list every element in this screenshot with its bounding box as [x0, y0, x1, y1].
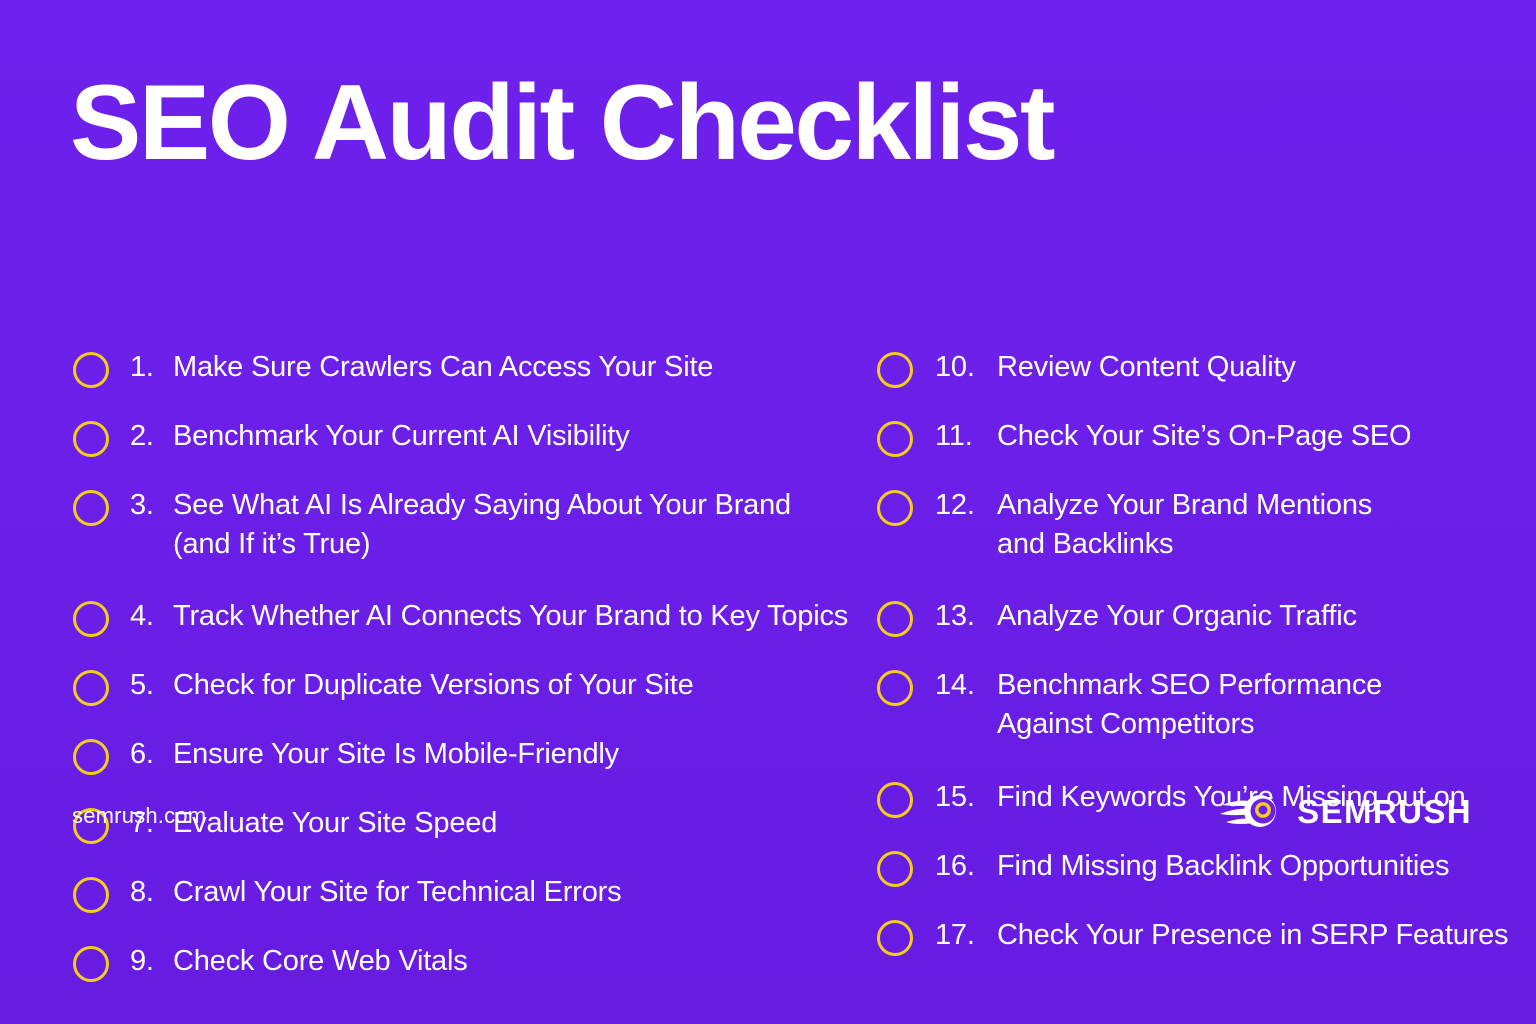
checklist-item-label: Benchmark Your Current AI Visibility	[173, 417, 630, 456]
checklist-item-label: Make Sure Crawlers Can Access Your Site	[173, 348, 713, 387]
checklist-item-body: 12.Analyze Your Brand Mentions and Backl…	[935, 486, 1372, 563]
checkbox-circle-icon[interactable]	[877, 920, 913, 956]
checkbox-circle-icon[interactable]	[877, 490, 913, 526]
checklist-item-number: 4.	[130, 597, 173, 636]
checklist-item-number: 14.	[935, 666, 997, 705]
checklist-columns: 1.Make Sure Crawlers Can Access Your Sit…	[0, 348, 1536, 1011]
checklist-column-right: 10.Review Content Quality11.Check Your S…	[860, 348, 1536, 1011]
checklist-item-label: Check Core Web Vitals	[173, 942, 468, 981]
brand-wordmark: SEMRUSH	[1297, 795, 1472, 828]
checklist-item-body: 11.Check Your Site’s On-Page SEO	[935, 417, 1411, 456]
checklist-item[interactable]: 2.Benchmark Your Current AI Visibility	[73, 417, 860, 457]
checklist-item-label: Check for Duplicate Versions of Your Sit…	[173, 666, 694, 705]
checklist-item-number: 9.	[130, 942, 173, 981]
brand-logo[interactable]: SEMRUSH	[1220, 789, 1472, 833]
checklist-column-left: 1.Make Sure Crawlers Can Access Your Sit…	[0, 348, 860, 1011]
checklist-item[interactable]: 13.Analyze Your Organic Traffic	[877, 597, 1536, 637]
checklist-item[interactable]: 5.Check for Duplicate Versions of Your S…	[73, 666, 860, 706]
checklist-item[interactable]: 14.Benchmark SEO Performance Against Com…	[877, 666, 1536, 743]
checklist-item[interactable]: 1.Make Sure Crawlers Can Access Your Sit…	[73, 348, 860, 388]
checklist-item-body: 9.Check Core Web Vitals	[130, 942, 468, 981]
checklist-item-number: 3.	[130, 486, 173, 525]
site-url[interactable]: semrush.com	[72, 803, 206, 829]
checklist-item[interactable]: 10.Review Content Quality	[877, 348, 1536, 388]
checklist-item-body: 5.Check for Duplicate Versions of Your S…	[130, 666, 694, 705]
checklist-item-number: 12.	[935, 486, 997, 525]
checklist-item-label: Analyze Your Organic Traffic	[997, 597, 1357, 636]
checklist-item-label: Ensure Your Site Is Mobile-Friendly	[173, 735, 619, 774]
checklist-item-body: 4.Track Whether AI Connects Your Brand t…	[130, 597, 848, 636]
checklist-item-body: 17.Check Your Presence in SERP Features	[935, 916, 1508, 955]
checklist-item-body: 3.See What AI Is Already Saying About Yo…	[130, 486, 791, 563]
checkbox-circle-icon[interactable]	[73, 946, 109, 982]
checklist-item[interactable]: 6.Ensure Your Site Is Mobile-Friendly	[73, 735, 860, 775]
checklist-item-number: 1.	[130, 348, 173, 387]
checklist-item-label: Track Whether AI Connects Your Brand to …	[173, 597, 848, 636]
checklist-item-number: 10.	[935, 348, 997, 387]
checklist-item-number: 17.	[935, 916, 997, 955]
poster-footer: semrush.com SEMRUSH	[0, 775, 1536, 895]
checkbox-circle-icon[interactable]	[73, 352, 109, 388]
checkbox-circle-icon[interactable]	[877, 421, 913, 457]
checkbox-circle-icon[interactable]	[877, 352, 913, 388]
checkbox-circle-icon[interactable]	[73, 421, 109, 457]
checklist-item-body: 1.Make Sure Crawlers Can Access Your Sit…	[130, 348, 713, 387]
checkbox-circle-icon[interactable]	[73, 670, 109, 706]
checklist-item[interactable]: 4.Track Whether AI Connects Your Brand t…	[73, 597, 860, 637]
checklist-item-body: 14.Benchmark SEO Performance Against Com…	[935, 666, 1382, 743]
checklist-item-body: 2.Benchmark Your Current AI Visibility	[130, 417, 630, 456]
checklist-item-label: Benchmark SEO Performance Against Compet…	[997, 666, 1382, 743]
semrush-comet-icon	[1220, 789, 1284, 833]
checklist-item-body: 6.Ensure Your Site Is Mobile-Friendly	[130, 735, 619, 774]
page-title: SEO Audit Checklist	[70, 66, 1536, 178]
checklist-item-label: Check Your Presence in SERP Features	[997, 916, 1508, 955]
checkbox-circle-icon[interactable]	[877, 670, 913, 706]
seo-audit-checklist-poster: SEO Audit Checklist 1.Make Sure Crawlers…	[0, 0, 1536, 1024]
checklist-item-number: 6.	[130, 735, 173, 774]
checklist-item[interactable]: 3.See What AI Is Already Saying About Yo…	[73, 486, 860, 563]
checklist-item[interactable]: 11.Check Your Site’s On-Page SEO	[877, 417, 1536, 457]
checklist-item-number: 5.	[130, 666, 173, 705]
checklist-item-label: See What AI Is Already Saying About Your…	[173, 486, 791, 563]
checkbox-circle-icon[interactable]	[877, 601, 913, 637]
checklist-item[interactable]: 17.Check Your Presence in SERP Features	[877, 916, 1536, 956]
checklist-item-label: Review Content Quality	[997, 348, 1296, 387]
checklist-item-number: 2.	[130, 417, 173, 456]
checklist-item[interactable]: 9.Check Core Web Vitals	[73, 942, 860, 982]
checklist-item-label: Check Your Site’s On-Page SEO	[997, 417, 1411, 456]
checkbox-circle-icon[interactable]	[73, 739, 109, 775]
checkbox-circle-icon[interactable]	[73, 601, 109, 637]
checklist-item[interactable]: 12.Analyze Your Brand Mentions and Backl…	[877, 486, 1536, 563]
checklist-item-number: 13.	[935, 597, 997, 636]
checklist-item-body: 13.Analyze Your Organic Traffic	[935, 597, 1357, 636]
checkbox-circle-icon[interactable]	[73, 490, 109, 526]
checklist-item-number: 11.	[935, 417, 997, 456]
title-container: SEO Audit Checklist	[70, 66, 1536, 178]
checklist-item-label: Analyze Your Brand Mentions and Backlink…	[997, 486, 1372, 563]
checklist-item-body: 10.Review Content Quality	[935, 348, 1296, 387]
